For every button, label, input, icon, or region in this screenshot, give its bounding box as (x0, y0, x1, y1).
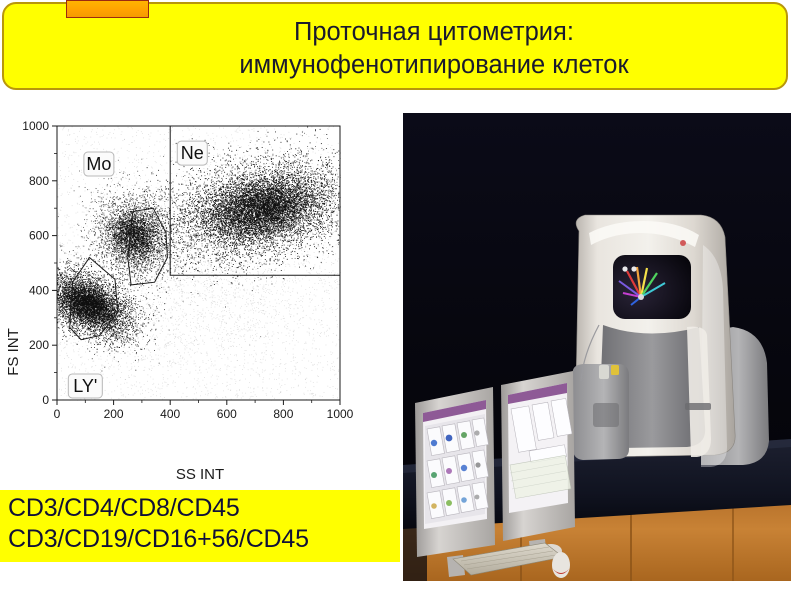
flow-cytometer-photo (403, 113, 791, 581)
instrument-display (613, 255, 691, 319)
x-tick-label-400: 400 (160, 407, 180, 421)
display-led-1 (622, 266, 627, 271)
gate-label-text: Mo (86, 154, 111, 174)
caption-line-1: CD3/CD4/CD8/CD45 (8, 494, 240, 523)
instrument-brand-plate (685, 403, 711, 410)
y-tick-label-1000: 1000 (22, 119, 49, 133)
scatter-plot-svg: 0200400600800100002004006008001000 LY'Mo… (0, 104, 392, 488)
y-tick-label-400: 400 (29, 283, 49, 297)
sample-tube (599, 365, 609, 379)
display-screen (613, 255, 691, 319)
sample-tube-cap (611, 365, 619, 375)
gate-label-text: Ne (181, 143, 204, 163)
orange-marker-rectangle (66, 0, 149, 18)
instrument-panel-edge (687, 327, 711, 457)
title-line-2: иммунофенотипирование клеток (239, 49, 628, 82)
x-axis-label: SS INT (176, 466, 224, 483)
y-tick-label-200: 200 (29, 338, 49, 352)
display-led-2 (631, 266, 636, 271)
sample-loader-door (593, 403, 619, 427)
y-tick-label-600: 600 (29, 229, 49, 243)
page-title: Проточная цитометрия: иммунофенотипирова… (84, 8, 784, 90)
x-tick-label-200: 200 (104, 407, 124, 421)
caption-line-2: CD3/CD19/CD16+56/CD45 (8, 525, 309, 554)
flow-cytometer-photo-svg (403, 113, 791, 581)
x-tick-label-600: 600 (217, 407, 237, 421)
flow-cytometry-scatter-plot: 0200400600800100002004006008001000 LY'Mo… (0, 104, 392, 488)
y-tick-label-0: 0 (42, 393, 49, 407)
y-axis-label: FS INT (5, 328, 22, 376)
monitor-left-plot-grid (425, 414, 489, 524)
x-tick-label-1000: 1000 (327, 407, 354, 421)
gate-label-mo: Mo (84, 152, 114, 176)
y-tick-label-800: 800 (29, 174, 49, 188)
instrument-logo-dot (680, 240, 686, 246)
marker-panel-caption: CD3/CD4/CD8/CD45 CD3/CD19/CD16+56/CD45 (0, 490, 400, 562)
x-tick-label-800: 800 (273, 407, 293, 421)
gate-label-text: LY' (73, 376, 97, 396)
gate-label-ne: Ne (177, 141, 207, 165)
computer-mouse (552, 552, 570, 578)
gate-label-ly: LY' (68, 374, 102, 398)
x-tick-label-0: 0 (54, 407, 61, 421)
title-line-1: Проточная цитометрия: (294, 16, 574, 49)
